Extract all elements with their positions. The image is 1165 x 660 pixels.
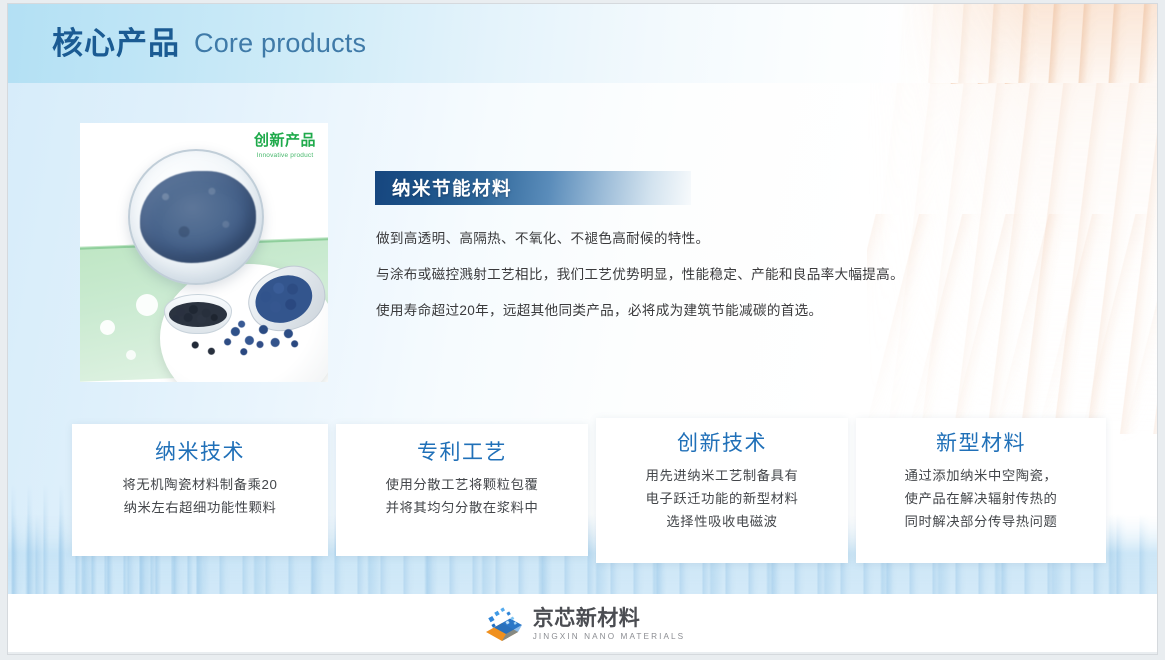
product-photo: 创新产品 Innovative product bbox=[80, 123, 328, 382]
feature-card-body: 用先进纳米工艺制备具有 电子跃迁功能的新型材料 选择性吸收电磁波 bbox=[596, 465, 848, 534]
page-title-cn: 核心产品 bbox=[52, 28, 180, 59]
feature-card-line: 并将其均匀分散在浆料中 bbox=[336, 497, 588, 520]
product-title-banner: 纳米节能材料 bbox=[375, 171, 691, 205]
photo-blue-powder bbox=[140, 171, 256, 263]
feature-card-line: 用先进纳米工艺制备具有 bbox=[596, 465, 848, 488]
feature-card[interactable]: 专利工艺 使用分散工艺将颗粒包覆 并将其均匀分散在浆料中 bbox=[336, 424, 588, 556]
product-photo-badge-en: Innovative product bbox=[254, 152, 316, 159]
page-title-en: Core products bbox=[194, 30, 366, 57]
feature-card-line: 选择性吸收电磁波 bbox=[596, 511, 848, 534]
feature-card-line: 使用分散工艺将颗粒包覆 bbox=[336, 474, 588, 497]
feature-card-line: 电子跃迁功能的新型材料 bbox=[596, 488, 848, 511]
feature-card[interactable]: 新型材料 通过添加纳米中空陶瓷， 使产品在解决辐射传热的 同时解决部分传导热问题 bbox=[856, 418, 1106, 563]
photo-bokeh-circle bbox=[100, 320, 115, 335]
slide-bottom-edge bbox=[8, 652, 1157, 654]
feature-card-line: 使产品在解决辐射传热的 bbox=[856, 488, 1106, 511]
company-name-cn: 京芯新材料 bbox=[533, 608, 686, 630]
product-photo-badge: 创新产品 Innovative product bbox=[254, 133, 316, 159]
pixel-cube-logo-icon bbox=[480, 605, 524, 645]
company-name-en: JINGXIN NANO MATERIALS bbox=[533, 632, 686, 641]
feature-card-line: 将无机陶瓷材料制备乘20 bbox=[72, 474, 328, 497]
product-description: 做到高透明、高隔热、不氧化、不褪色高耐候的特性。 与涂布或磁控溅射工艺相比，我们… bbox=[376, 232, 1016, 340]
page-title: 核心产品 Core products bbox=[52, 4, 366, 83]
feature-card-body: 将无机陶瓷材料制备乘20 纳米左右超细功能性颗料 bbox=[72, 474, 328, 520]
feature-card-body: 通过添加纳米中空陶瓷， 使产品在解决辐射传热的 同时解决部分传导热问题 bbox=[856, 465, 1106, 534]
product-paragraph: 使用寿命超过20年，远超其他同类产品，必将成为建筑节能减碳的首选。 bbox=[376, 304, 1016, 319]
feature-card-title: 纳米技术 bbox=[72, 442, 328, 463]
product-paragraph: 与涂布或磁控溅射工艺相比，我们工艺优势明显，性能稳定、产能和良品率大幅提高。 bbox=[376, 268, 1016, 283]
product-photo-badge-cn: 创新产品 bbox=[254, 133, 316, 150]
feature-card-line: 纳米左右超细功能性颗料 bbox=[72, 497, 328, 520]
product-title-text: 纳米节能材料 bbox=[375, 175, 512, 201]
company-logo-text: 京芯新材料 JINGXIN NANO MATERIALS bbox=[533, 608, 686, 640]
feature-card-title: 创新技术 bbox=[596, 433, 848, 454]
feature-card-line: 通过添加纳米中空陶瓷， bbox=[856, 465, 1106, 488]
feature-card-line: 同时解决部分传导热问题 bbox=[856, 511, 1106, 534]
product-paragraph: 做到高透明、高隔热、不氧化、不褪色高耐候的特性。 bbox=[376, 232, 1016, 247]
page-header: 核心产品 Core products bbox=[8, 4, 1157, 83]
feature-card-title: 新型材料 bbox=[856, 433, 1106, 454]
photo-scattered-pellets bbox=[188, 332, 278, 358]
slide-canvas: 核心产品 Core products 创新产品 Innovative produ… bbox=[8, 4, 1157, 654]
photo-petri-dish bbox=[128, 149, 264, 285]
company-logo[interactable]: 京芯新材料 JINGXIN NANO MATERIALS bbox=[480, 605, 686, 645]
feature-card[interactable]: 创新技术 用先进纳米工艺制备具有 电子跃迁功能的新型材料 选择性吸收电磁波 bbox=[596, 418, 848, 563]
feature-card-title: 专利工艺 bbox=[336, 442, 588, 463]
feature-card[interactable]: 纳米技术 将无机陶瓷材料制备乘20 纳米左右超细功能性颗料 bbox=[72, 424, 328, 556]
header-building-photo-icon bbox=[897, 4, 1157, 83]
feature-card-body: 使用分散工艺将颗粒包覆 并将其均匀分散在浆料中 bbox=[336, 474, 588, 520]
photo-bokeh-circle bbox=[126, 350, 136, 360]
page-footer: 京芯新材料 JINGXIN NANO MATERIALS bbox=[8, 594, 1157, 654]
photo-bokeh-circle bbox=[136, 294, 158, 316]
